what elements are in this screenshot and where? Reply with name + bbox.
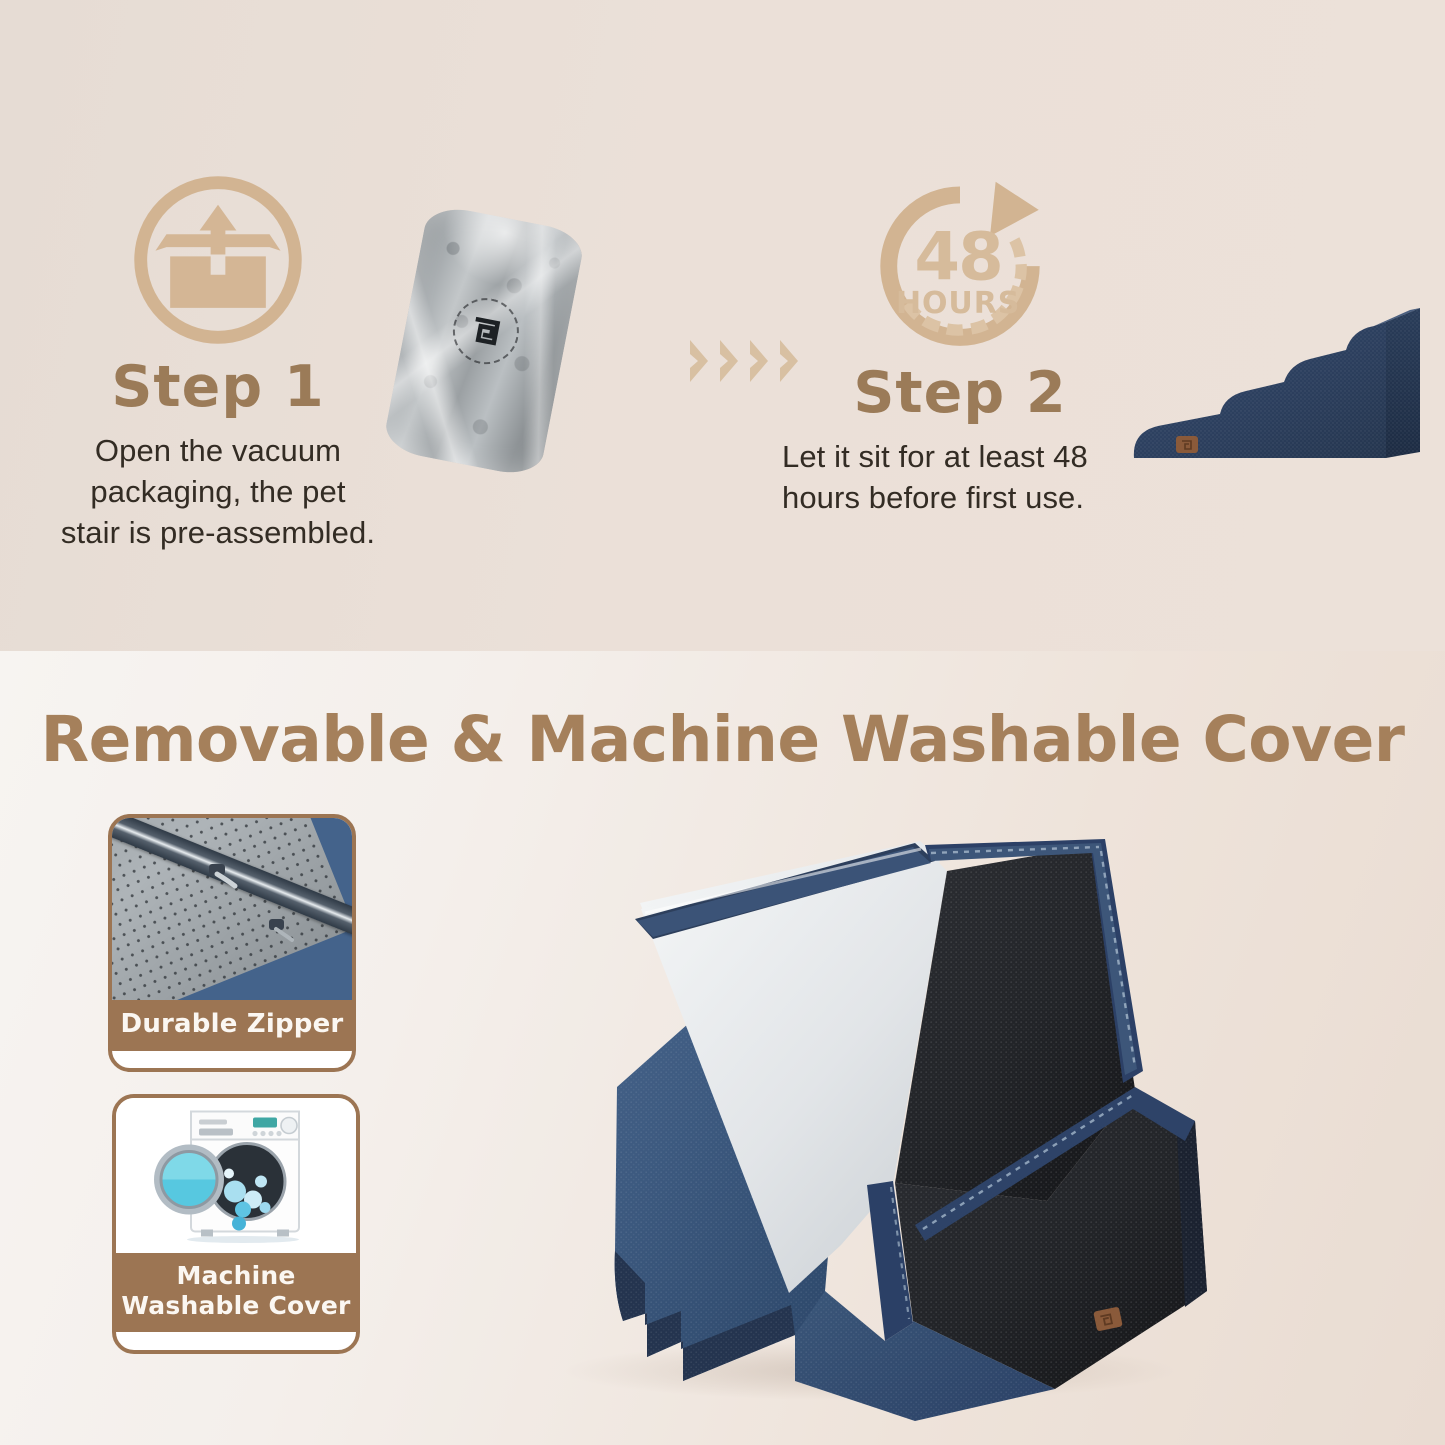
step-1-desc-line-3: stair is pre-assembled.: [18, 512, 418, 553]
step-2-description: Let it sit for at least 48 hours before …: [760, 436, 1160, 518]
step-2-block: 48 HOURS Step 2 Let it sit for at least …: [760, 178, 1160, 518]
card-label-durable-zipper: Durable Zipper: [112, 1000, 352, 1051]
step-2-title: Step 2: [760, 364, 1160, 424]
chevron-right-icon: [716, 338, 742, 384]
step-1-desc-line-1: Open the vacuum: [18, 430, 418, 471]
48-hours-clock-icon: 48 HOURS: [760, 178, 1160, 358]
step-1-title: Step 1: [18, 358, 418, 418]
step-2-desc-line-1: Let it sit for at least 48: [782, 436, 1160, 477]
feature-card-durable-zipper: Durable Zipper: [108, 814, 356, 1072]
chevron-right-icon: [686, 338, 712, 384]
zipper-closeup-photo: [112, 818, 352, 1000]
step-1-block: Step 1 Open the vacuum packaging, the pe…: [18, 168, 418, 554]
steps-section: Step 1 Open the vacuum packaging, the pe…: [0, 0, 1445, 651]
step-2-desc-line-2: hours before first use.: [782, 477, 1160, 518]
svg-text:HOURS: HOURS: [896, 286, 1020, 321]
card-label-machine-washable: Machine Washable Cover: [116, 1253, 356, 1332]
zipper-pull-icon: [203, 858, 243, 894]
card-label-line-1: Machine: [120, 1261, 352, 1291]
washing-machine-illustration: [116, 1098, 356, 1253]
infographic-page: Step 1 Open the vacuum packaging, the pe…: [0, 0, 1445, 1445]
washable-cover-section: Removable & Machine Washable Cover Durab…: [0, 651, 1445, 1445]
navy-pet-stairs-image: [1124, 246, 1434, 478]
open-box-arrow-icon: [18, 168, 418, 352]
svg-text:48: 48: [914, 219, 1002, 295]
step-1-description: Open the vacuum packaging, the pet stair…: [18, 430, 418, 554]
step-1-desc-line-2: packaging, the pet: [18, 471, 418, 512]
zipper-slider-icon: [263, 913, 303, 949]
washing-machine-graphic: [143, 1103, 329, 1248]
feature-card-machine-washable: Machine Washable Cover: [112, 1094, 360, 1354]
section-title: Removable & Machine Washable Cover: [0, 703, 1445, 776]
pet-stairs-cover-unzipped-image: [495, 821, 1285, 1421]
card-label-line-2: Washable Cover: [120, 1291, 352, 1321]
